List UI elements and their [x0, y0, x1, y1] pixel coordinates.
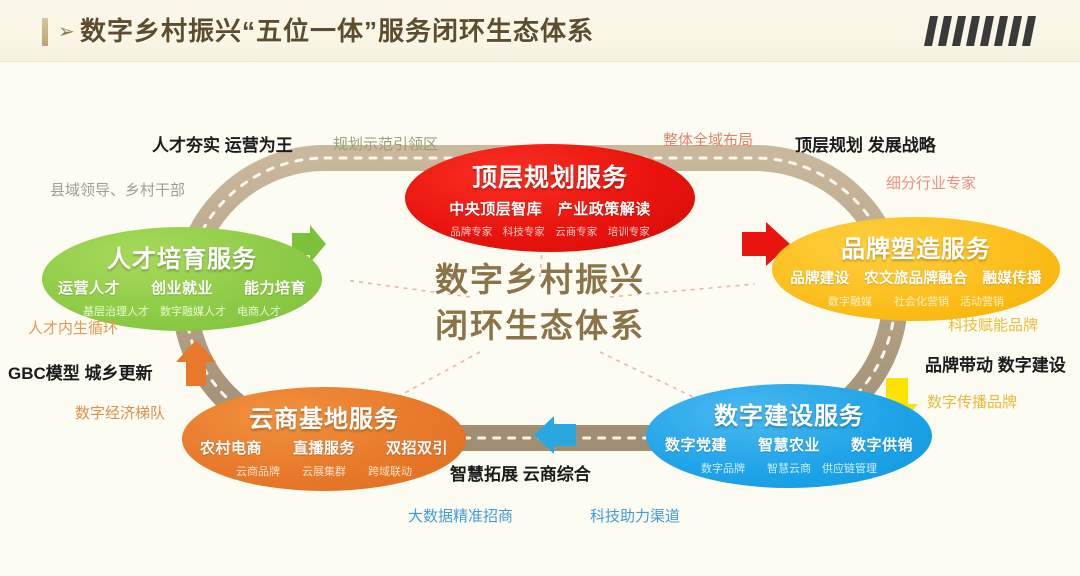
label-county-leaders: 县域领导、乡村干部 [50, 179, 185, 200]
label-talent-inner-loop: 人才内生循环 [28, 317, 118, 338]
node-brand-shaping[interactable]: 品牌塑造服务 品牌建设 农文旅品牌融合 融媒传播 数字融媒 社会化营销 活动营销 [772, 217, 1060, 321]
center-title-line1: 数字乡村振兴 [390, 257, 690, 303]
label-tech-channel: 科技助力渠道 [590, 505, 680, 526]
node-top-planning[interactable]: 顶层规划服务 中央顶层智库 产业政策解读 品牌专家 科技专家 云商专家 培训专家 [405, 144, 695, 252]
node-title: 顶层规划服务 [472, 158, 628, 194]
node-digital-construction[interactable]: 数字建设服务 数字党建 智慧农业 数字供销 数字品牌 智慧云商 供应链管理 [646, 384, 932, 488]
node-title: 数字建设服务 [714, 396, 864, 431]
node-subtitle: 中央顶层智库 产业政策解读 [449, 198, 651, 219]
node-talent-cultivation[interactable]: 人才培育服务 运营人才 创业就业 能力培育 基层治理人才 数字融媒人才 电商人才 [42, 227, 322, 331]
page-header: ➢ 数字乡村振兴“五位一体”服务闭环生态体系 [0, 0, 1080, 62]
label-whole-area-layout: 整体全域布局 [663, 129, 753, 150]
node-subtitle: 数字党建 智慧农业 数字供销 [665, 434, 913, 455]
node-title: 云商基地服务 [249, 399, 399, 434]
node-cloud-commerce-base[interactable]: 云商基地服务 农村电商 直播服务 双招双引 云商品牌 云展集群 跨域联动 [182, 387, 466, 491]
label-gbc-main: GBC模型 城乡更新 [8, 359, 153, 384]
label-brand-main: 品牌带动 数字建设 [925, 351, 1066, 376]
node-title: 人才培育服务 [107, 239, 257, 274]
label-industry-experts: 细分行业专家 [886, 172, 976, 193]
label-smart-main: 智慧拓展 云商综合 [450, 460, 591, 485]
page-title: 数字乡村振兴“五位一体”服务闭环生态体系 [80, 14, 594, 48]
node-title: 品牌塑造服务 [841, 229, 991, 264]
label-bigdata-invest: 大数据精准招商 [408, 505, 513, 526]
node-detail: 数字品牌 智慧云商 供应链管理 [701, 460, 877, 476]
chevron-right-icon: ➢ [58, 19, 75, 45]
label-digital-spread-brand: 数字传播品牌 [927, 391, 1017, 412]
node-subtitle: 农村电商 直播服务 双招双引 [200, 437, 448, 458]
node-detail: 云商品牌 云展集群 跨域联动 [236, 463, 412, 479]
header-accent-bar [42, 18, 48, 46]
node-detail: 品牌专家 科技专家 云商专家 培训专家 [450, 224, 650, 239]
label-digital-economy-echelon: 数字经济梯队 [75, 402, 165, 423]
diagram-center-title: 数字乡村振兴 闭环生态体系 [390, 257, 690, 349]
node-subtitle: 品牌建设 农文旅品牌融合 融媒传播 [790, 267, 1042, 288]
label-talent-main: 人才夯实 运营为王 [152, 131, 293, 156]
decorative-stripes-icon [924, 16, 1044, 46]
node-detail: 数字融媒 社会化营销 活动营销 [828, 293, 1004, 309]
center-title-line2: 闭环生态体系 [390, 303, 690, 349]
diagram-canvas: 顶层规划服务 中央顶层智库 产业政策解读 品牌专家 科技专家 云商专家 培训专家… [0, 62, 1080, 576]
label-top-plan-main: 顶层规划 发展战略 [795, 131, 936, 156]
label-plan-demo-zone: 规划示范引领区 [333, 133, 438, 154]
node-subtitle: 运营人才 创业就业 能力培育 [58, 277, 306, 298]
label-tech-empower-brand: 科技赋能品牌 [948, 314, 1038, 335]
